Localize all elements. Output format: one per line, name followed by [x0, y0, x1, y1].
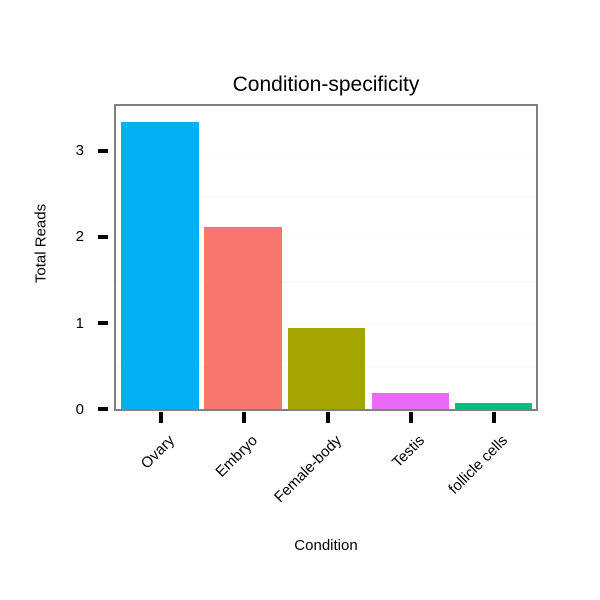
- y-tick-label-0: 0: [62, 402, 84, 417]
- x-tick-label-female-body: Female-body: [259, 432, 345, 518]
- x-tick-mark-testis: [409, 412, 413, 423]
- bar-testis[interactable]: [372, 393, 449, 409]
- x-tick-label-follicle-cells: follicle cells: [425, 432, 511, 518]
- bar-ovary[interactable]: [121, 122, 199, 409]
- plot-area: [116, 106, 536, 409]
- x-tick-label-embryo: Embryo: [175, 432, 261, 518]
- y-tick-mark-3: [98, 149, 108, 153]
- y-tick-label-2: 2: [62, 229, 84, 244]
- x-tick-mark-female-body: [326, 412, 330, 423]
- y-tick-mark-1: [98, 321, 108, 325]
- x-tick-label-ovary: Ovary: [92, 432, 178, 518]
- chart-figure: Condition-specificity Total Reads 3 2 1 …: [0, 0, 600, 600]
- x-tick-label-testis: Testis: [342, 432, 428, 518]
- plot-panel: [114, 104, 538, 411]
- bar-follicle-cells[interactable]: [455, 403, 532, 409]
- x-axis-title: Condition: [114, 537, 538, 554]
- y-tick-label-3: 3: [62, 143, 84, 158]
- y-tick-mark-2: [98, 235, 108, 239]
- y-axis-title: Total Reads: [33, 184, 50, 304]
- x-tick-mark-ovary: [159, 412, 163, 423]
- y-tick-label-1: 1: [62, 316, 84, 331]
- y-tick-mark-0: [98, 407, 108, 411]
- bar-female-body[interactable]: [288, 328, 365, 409]
- x-tick-mark-follicle-cells: [492, 412, 496, 423]
- bar-embryo[interactable]: [204, 227, 282, 409]
- page-title: Condition-specificity: [114, 72, 538, 98]
- x-tick-mark-embryo: [242, 412, 246, 423]
